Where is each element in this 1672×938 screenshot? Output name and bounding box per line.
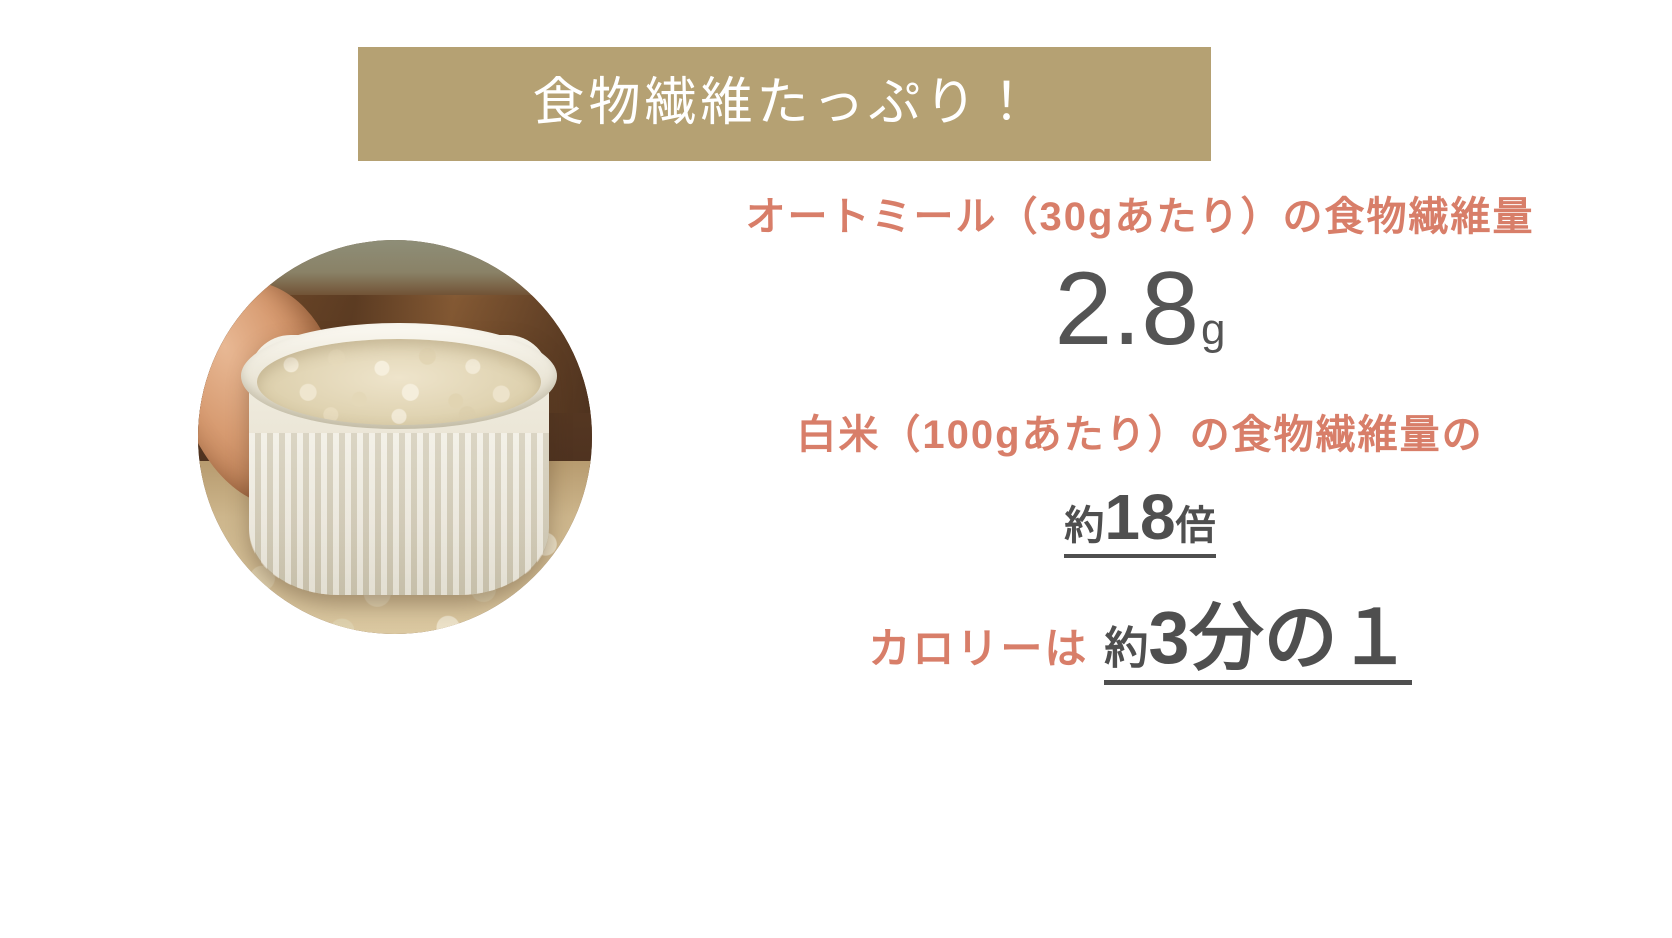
photo-inner	[198, 240, 592, 634]
calorie-prefix: 約	[1104, 624, 1148, 673]
multiplier-emphasis: 約18倍	[1064, 483, 1215, 558]
calorie-number: 3分の１	[1148, 596, 1411, 679]
multiplier-suffix: 倍	[1176, 504, 1216, 548]
multiplier-prefix: 約	[1064, 504, 1104, 548]
multiplier-row: 約18倍	[620, 483, 1660, 558]
rolled-oats	[257, 339, 541, 426]
bowl-fluting	[249, 433, 548, 594]
calorie-emphasis: 約3分の１	[1104, 598, 1411, 685]
content-column: オートミール（30gあたり）の食物繊維量 2.8 g 白米（100gあたり）の食…	[620, 195, 1660, 685]
multiplier-number: 18	[1104, 481, 1175, 553]
oatmeal-fiber-value: 2.8	[1054, 257, 1199, 361]
calorie-row: カロリーは 約3分の１	[620, 598, 1660, 685]
oatmeal-fiber-unit: g	[1201, 308, 1225, 352]
oatmeal-fiber-value-row: 2.8 g	[620, 257, 1660, 361]
white-rice-fiber-label: 白米（100gあたり）の食物繊維量の	[620, 413, 1660, 457]
calorie-label: カロリーは	[868, 626, 1088, 672]
oatmeal-photo	[198, 240, 592, 634]
oatmeal-fiber-label: オートミール（30gあたり）の食物繊維量	[620, 195, 1660, 239]
title-banner: 食物繊維たっぷり！	[358, 47, 1211, 161]
page-title: 食物繊維たっぷり！	[532, 78, 1036, 130]
infographic-slide: 食物繊維たっぷり！ オートミール（30gあたり）の食物繊維量 2.8 g 白米（…	[0, 0, 1672, 938]
